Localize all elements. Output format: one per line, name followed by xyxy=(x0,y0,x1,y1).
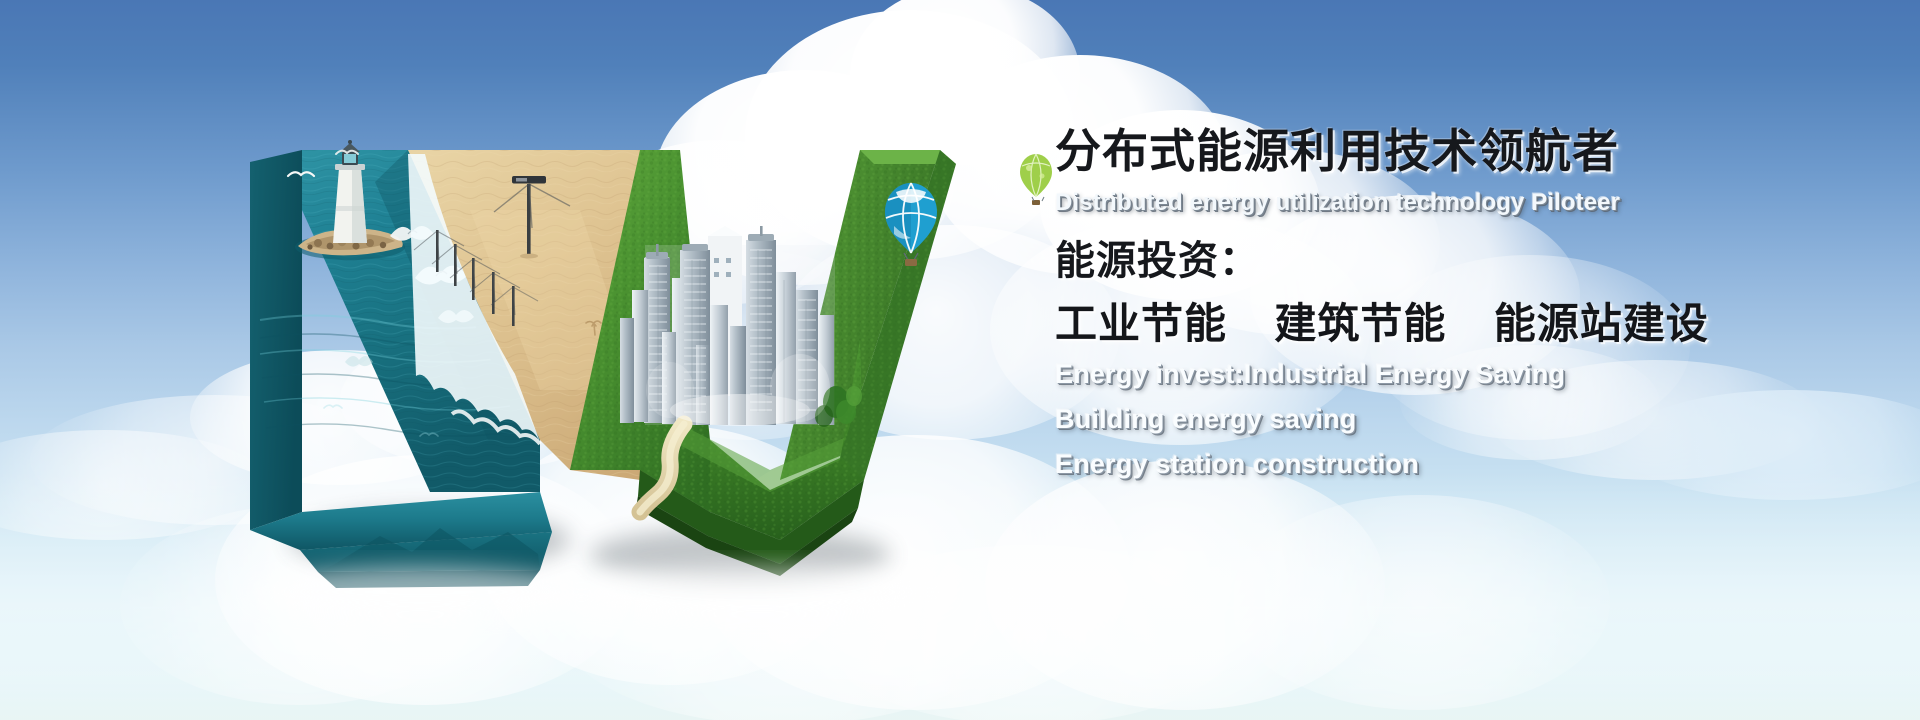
service-item-industrial-en: Energy invest:Industrial Energy Saving xyxy=(1055,361,1775,388)
hero-banner: 分布式能源利用技术领航者 Distributed energy utilizat… xyxy=(0,0,1920,720)
service-item-industrial-cn: 工业节能 xyxy=(1055,300,1227,347)
headline-chinese: 分布式能源利用技术领航者 xyxy=(1055,128,1775,174)
hot-air-balloon-green-icon xyxy=(1020,154,1052,205)
ocean-left-face xyxy=(250,150,302,530)
green-city-scene xyxy=(570,150,1052,576)
building xyxy=(620,318,634,423)
seagull-icon xyxy=(345,356,373,367)
base-glow xyxy=(250,566,950,618)
subtitle-english: Distributed energy utilization technolog… xyxy=(1055,191,1775,215)
services-chinese-row: 工业节能 建筑节能 能源站建设 xyxy=(1055,303,1775,345)
service-item-station-en: Energy station construction xyxy=(1055,451,1775,478)
banner-copy: 分布式能源利用技术领航者 Distributed energy utilizat… xyxy=(1055,128,1775,478)
service-item-building-cn: 建筑节能 xyxy=(1274,300,1446,347)
cloud-base-puff xyxy=(1230,495,1610,710)
letter-w-artwork xyxy=(240,140,1070,600)
service-item-building-en: Building energy saving xyxy=(1055,406,1775,433)
service-item-station-cn: 能源站建设 xyxy=(1494,300,1709,347)
section-label-chinese: 能源投资： xyxy=(1055,241,1775,281)
cloud-puff xyxy=(0,430,270,540)
building xyxy=(632,290,648,422)
